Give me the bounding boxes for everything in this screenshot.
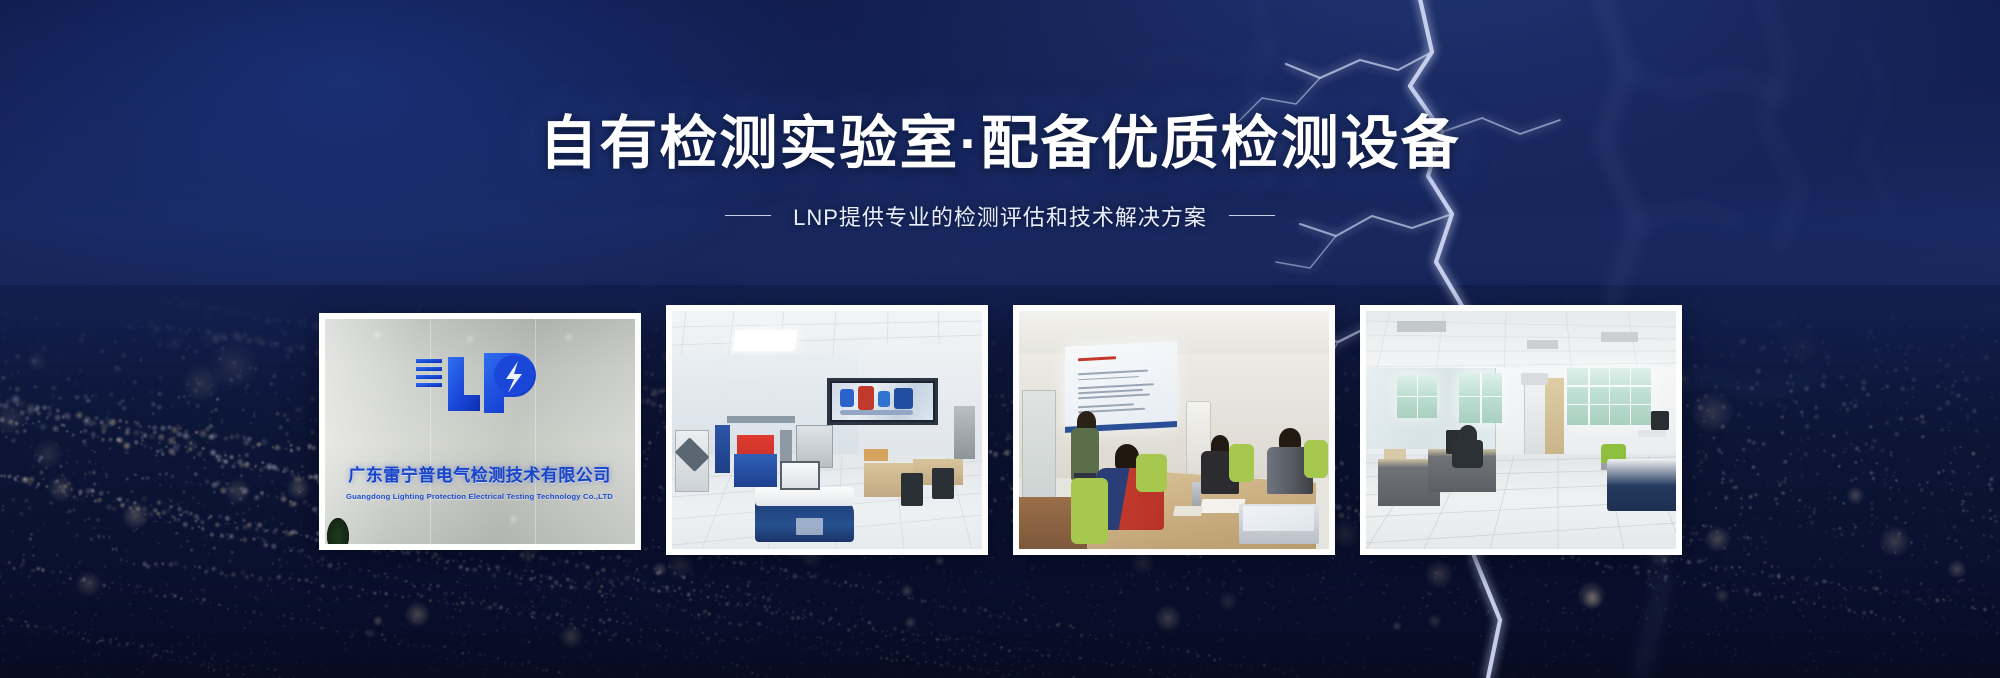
gallery-item-office[interactable] xyxy=(1360,305,1682,555)
lab-scene xyxy=(672,311,982,549)
rule-right-icon xyxy=(1229,215,1275,216)
banner-subtitle: LNP提供专业的检测评估和技术解决方案 xyxy=(793,200,1207,232)
laptop-icon xyxy=(1239,504,1320,544)
hero-banner: 自有检测实验室·配备优质检测设备 LNP提供专业的检测评估和技术解决方案 xyxy=(0,0,2000,678)
company-sign-photo: 广东雷宁普电气检测技术有限公司 Guangdong Lighting Prote… xyxy=(325,319,635,544)
lnp-logo-icon xyxy=(414,347,546,417)
gallery-item-company-sign[interactable]: 广东雷宁普电气检测技术有限公司 Guangdong Lighting Prote… xyxy=(319,313,641,550)
banner-headline: 自有检测实验室·配备优质检测设备 xyxy=(0,112,2000,176)
sign-wall-surface: 广东雷宁普电气检测技术有限公司 Guangdong Lighting Prote… xyxy=(325,319,635,544)
company-name-cn: 广东雷宁普电气检测技术有限公司 xyxy=(348,461,611,486)
office-scene xyxy=(1366,311,1676,549)
laboratory-photo xyxy=(672,311,982,549)
banner-text-block: 自有检测实验室·配备优质检测设备 LNP提供专业的检测评估和技术解决方案 xyxy=(0,112,2000,232)
photo-gallery: 广东雷宁普电气检测技术有限公司 Guangdong Lighting Prote… xyxy=(0,313,2000,553)
gallery-item-laboratory[interactable] xyxy=(666,305,988,555)
meeting-scene xyxy=(1019,311,1329,549)
rule-left-icon xyxy=(725,215,771,216)
office-photo xyxy=(1366,311,1676,549)
meeting-room-photo xyxy=(1019,311,1329,549)
plant-decor-icon xyxy=(327,518,349,544)
gallery-item-meeting-room[interactable] xyxy=(1013,305,1335,555)
company-name-en: Guangdong Lighting Protection Electrical… xyxy=(346,492,613,501)
banner-subtitle-row: LNP提供专业的检测评估和技术解决方案 xyxy=(0,200,2000,232)
